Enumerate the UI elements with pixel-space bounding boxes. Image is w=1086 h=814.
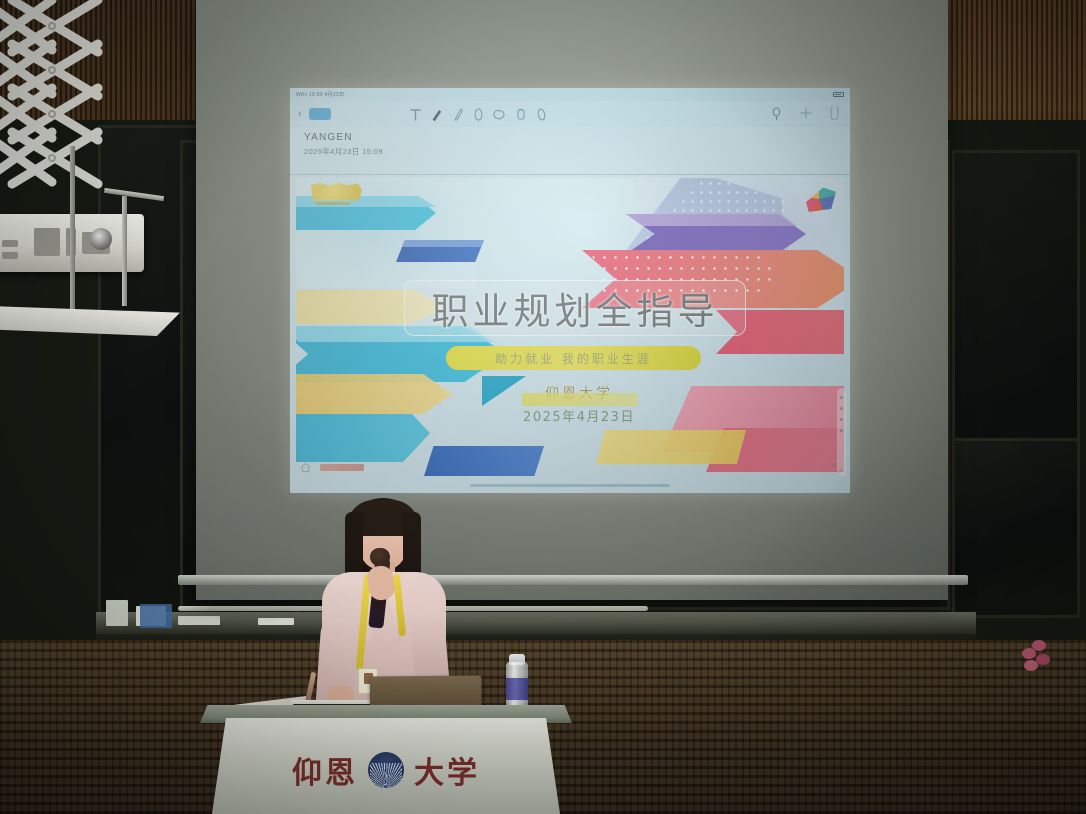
tray-item [178,616,220,625]
podium-branding: 仰恩 大学 [212,748,560,792]
page-indicator[interactable] [470,484,670,487]
projector-pole [70,146,75,331]
blackboard-right-lower-panel [952,438,1080,618]
tablet-status-bar: WiFi 15:09 4月23日 [290,88,850,101]
microphone-head [370,548,390,566]
slide-title: 职业规划全指导 [432,281,719,335]
more-options-icon[interactable] [829,107,842,122]
crest-rays [370,763,402,788]
slide-canvas: 职业规划全指导 助力就业 我的职业生涯 仰恩大学 2025年4月23日 [296,178,844,478]
chalk-tray-ledge [96,612,976,634]
org-highlight [522,393,638,406]
watermark-logo-icon [310,182,362,202]
pen-tool-icon[interactable] [451,107,464,122]
toolbar-right-group [771,107,842,122]
note-title: YANGEN [304,132,383,143]
tray-item [106,600,128,626]
text-tool-icon[interactable] [409,107,422,122]
slide-subtitle: 助力就业 我的职业生涯 [495,350,652,367]
podium-right-chars: 大学 [414,748,480,792]
color-swatch-chip[interactable] [309,108,331,120]
slide-title-plate: 职业规划全指导 [404,280,746,336]
projector-lens [90,228,112,250]
ruler-tool-icon[interactable] [514,107,527,122]
university-crest-icon [368,752,404,788]
drawing-tool-group [409,107,548,122]
watermark-logo-subline [316,202,350,205]
flower-decoration [1022,640,1052,674]
slide-subtitle-pill: 助力就业 我的职业生涯 [446,346,701,370]
slide-org-block: 仰恩大学 2025年4月23日 [504,383,654,425]
status-bar-right [833,92,844,97]
eraser-tool-icon[interactable] [493,107,506,122]
note-header: YANGEN 2025年4月23日 15:09 [304,132,383,157]
projector-arm-vertical [122,196,127,306]
status-bar-left-text: WiFi 15:09 4月23日 [296,91,344,98]
battery-icon [833,92,844,97]
expand-icon[interactable] [832,463,842,473]
tray-item [140,604,172,628]
projected-slide: WiFi 15:09 4月23日 ‹ [290,88,850,493]
shape-tool-icon[interactable] [535,107,548,122]
podium-left-chars: 仰恩 [292,748,358,792]
note-timestamp: 2025年4月23日 15:09 [304,146,383,157]
note-app-toolbar: ‹ [290,101,850,127]
screen-bottom-roller [178,575,968,585]
back-icon[interactable]: ‹ [298,108,302,120]
add-page-icon[interactable] [800,107,813,122]
lasso-select-icon[interactable] [771,107,784,122]
highlighter-tool-icon[interactable] [430,107,443,122]
pencil-tool-icon[interactable] [472,107,485,122]
note-divider [290,174,850,175]
lecture-hall-scene: WiFi 15:09 4月23日 ‹ [0,0,1086,814]
slide-bottom-accent-bar [320,464,364,471]
ceiling-projector-mount [0,0,194,236]
home-icon[interactable] [300,462,311,473]
scissor-lift-icon [0,0,194,236]
tray-item [258,618,294,625]
slide-org-date: 2025年4月23日 [504,406,654,425]
water-bottle-label [506,678,528,700]
